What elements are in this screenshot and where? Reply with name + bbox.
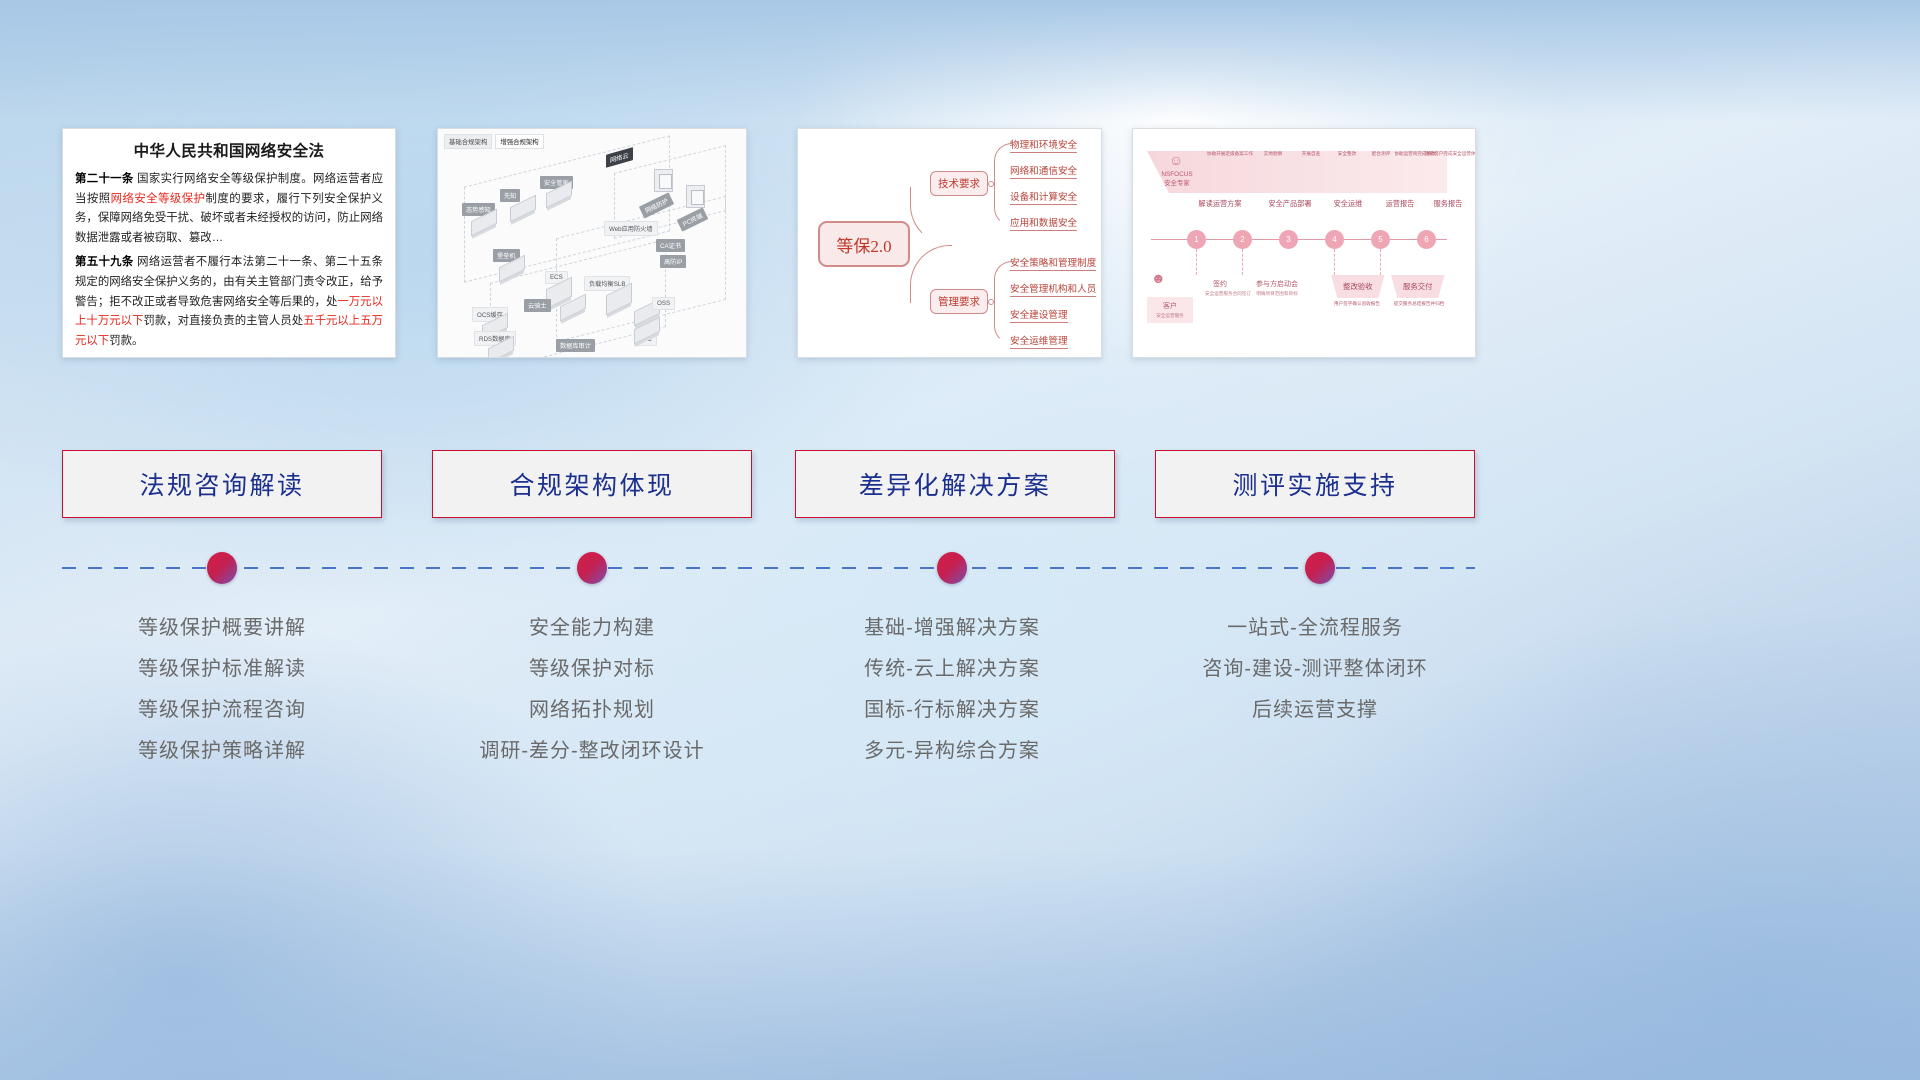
flow-bottom-sign: 签约 安全运营服务合同签订 (1199, 275, 1241, 301)
column-solution-items: 基础-增强解决方案 传统-云上解决方案 国标-行标解决方案 多元-异构综合方案 (787, 608, 1117, 772)
arch-node-yunqishi: 云骑士 (524, 299, 551, 312)
flow-phase-2: 安全产品部署 (1261, 199, 1319, 209)
flow-dash-3 (1334, 249, 1335, 275)
article-59-text-b: 罚款，对直接负责的主管人员处 (143, 315, 303, 327)
flow-bottom-acceptance: 整改验收 (1331, 275, 1385, 298)
column-2-item-3: 网络拓扑规划 (427, 690, 757, 731)
flow-step-4: 4 (1325, 230, 1344, 249)
column-4-item-2: 咨询-建设-测评整体闭环 (1150, 649, 1480, 690)
column-2-item-2: 等级保护对标 (427, 649, 757, 690)
mindmap-leaf-mgmt-4: 安全运维管理 (1010, 333, 1068, 349)
client-person-icon: ☻ (1151, 271, 1166, 285)
banner-label-1: 法规咨询解读 (139, 466, 304, 502)
timeline-dot-1 (207, 552, 237, 584)
serviceflow-diagram: ☺ NSFOCUS 安全专家 协助开展定级备案工作 实地勘察 开展自查 安全整改… (1133, 129, 1475, 357)
arch-node-xianzhi: 先知 (500, 189, 520, 202)
flow-bottom-client-sub: 安全运营服务 (1153, 313, 1187, 319)
flow-bottom-kickoff-sub: 明确项目范围和目标 (1253, 291, 1301, 297)
screenshot-card-serviceflow[interactable]: ☺ NSFOCUS 安全专家 协助开展定级备案工作 实地勘察 开展自查 安全整改… (1132, 128, 1476, 358)
flow-bottom-sign-label: 签约 (1213, 281, 1227, 288)
serviceflow-persona: NSFOCUS 安全专家 (1151, 171, 1203, 188)
column-regulation-items: 等级保护概要讲解 等级保护标准解读 等级保护流程咨询 等级保护策略详解 (57, 608, 387, 772)
column-4-item-3: 后续运营支撑 (1150, 690, 1480, 731)
tab-enhanced-architecture[interactable]: 增强合规架构 (495, 134, 543, 149)
arch-server-mobile (686, 185, 705, 208)
column-3-item-2: 传统-云上解决方案 (787, 649, 1117, 690)
mindmap-leaf-mgmt-2: 安全管理机构和人员 (1010, 281, 1096, 297)
mindmap-branch-mgmt: 管理要求 (930, 289, 988, 314)
banner-label-2: 合规架构体现 (509, 466, 674, 502)
flow-bottom-acceptance-sub: 用户签字确认验收报告 (1329, 301, 1385, 307)
flow-top-item-1: 协助开展定级备案工作 (1207, 151, 1251, 157)
flow-phase-5: 服务报告 (1419, 199, 1476, 209)
flow-bottom-client-label: 客户 (1163, 303, 1177, 310)
flow-dash-2 (1242, 249, 1243, 275)
mindmap-branch-tech: 技术要求 (930, 171, 988, 196)
arch-server-pc (654, 169, 673, 192)
screenshot-card-mindmap[interactable]: 等保2.0 技术要求 物理和环境安全 网络和通信安全 设备和计算安全 应用和数据… (797, 128, 1102, 358)
column-3-item-3: 国标-行标解决方案 (787, 690, 1117, 731)
flow-bottom-sign-sub: 安全运营服务合同签订 (1205, 291, 1235, 297)
flow-step-3: 3 (1279, 230, 1298, 249)
banner-differentiated-solution[interactable]: 差异化解决方案 (795, 450, 1115, 518)
column-1-item-4: 等级保护策略详解 (57, 731, 387, 772)
column-architecture-items: 安全能力构建 等级保护对标 网络拓扑规划 调研-差分-整改闭环设计 (427, 608, 757, 772)
flow-step-5: 5 (1371, 230, 1390, 249)
flow-phase-3: 安全运维 (1319, 199, 1377, 209)
arch-node-db-audit: 数据库审计 (556, 339, 595, 352)
column-1-item-3: 等级保护流程咨询 (57, 690, 387, 731)
flow-step-1: 1 (1187, 230, 1206, 249)
flow-phase-1: 解读运营方案 (1191, 199, 1249, 209)
mindmap-leaf-mgmt-1: 安全策略和管理制度 (1010, 255, 1096, 271)
flow-dash-4 (1380, 249, 1381, 275)
column-1-item-1: 等级保护概要讲解 (57, 608, 387, 649)
persona-brand: NSFOCUS (1161, 171, 1192, 178)
flow-step-6: 6 (1417, 230, 1436, 249)
law-document: 中华人民共和国网络安全法 第二十一条 国家实行网络安全等级保护制度。网络运营者应… (63, 129, 395, 357)
law-article-21: 第二十一条 国家实行网络安全等级保护制度。网络运营者应当按照网络安全等级保护制度… (75, 170, 383, 248)
article-21-label: 第二十一条 (75, 173, 134, 185)
screenshot-card-law[interactable]: 中华人民共和国网络安全法 第二十一条 国家实行网络安全等级保护制度。网络运营者应… (62, 128, 396, 358)
law-title: 中华人民共和国网络安全法 (75, 139, 383, 161)
flow-bottom-delivery: 服务交付 (1391, 275, 1445, 298)
arch-node-oss: OSS (652, 297, 675, 310)
mindmap-leaf-mgmt-3: 安全建设管理 (1010, 307, 1068, 323)
law-article-59: 第五十九条 网络运营者不履行本法第二十一条、第二十五条规定的网络安全保护义务的，… (75, 253, 383, 351)
column-4-item-1: 一站式-全流程服务 (1150, 608, 1480, 649)
column-3-item-4: 多元-异构综合方案 (787, 731, 1117, 772)
arch-node-ca: CA证书 (656, 239, 685, 252)
flow-bottom-delivery-sub: 提交服务总结报告并归档 (1389, 301, 1449, 307)
timeline-dot-4 (1305, 552, 1335, 584)
flow-bottom-client: 客户 安全运营服务 (1147, 297, 1193, 323)
banner-compliance-architecture[interactable]: 合规架构体现 (432, 450, 752, 518)
mindmap-leaf-tech-2: 网络和通信安全 (1010, 163, 1077, 179)
column-3-item-1: 基础-增强解决方案 (787, 608, 1117, 649)
column-1-item-2: 等级保护标准解读 (57, 649, 387, 690)
flow-bottom-kickoff: 参与方启动会 明确项目范围和目标 (1247, 275, 1307, 301)
expert-person-icon: ☺ (1169, 153, 1183, 167)
flow-bottom-delivery-label: 服务交付 (1403, 282, 1433, 291)
banner-regulation-consulting[interactable]: 法规咨询解读 (62, 450, 382, 518)
article-59-text-c: 罚款。 (109, 335, 143, 347)
flow-bottom-acceptance-label: 整改验收 (1343, 282, 1373, 291)
persona-role: 安全专家 (1164, 180, 1190, 187)
banner-label-4: 测评实施支持 (1232, 466, 1397, 502)
architecture-diagram: 基础合规架构 增强合规架构 网络云 安全管家 先知 态势感知 堡垒机 ECS 云… (438, 129, 746, 357)
article-21-highlight: 网络安全等级保护 (111, 193, 206, 205)
banner-label-3: 差异化解决方案 (859, 466, 1052, 502)
architecture-tabs[interactable]: 基础合规架构 增强合规架构 (444, 134, 544, 149)
mindmap-leaf-tech-1: 物理和环境安全 (1010, 137, 1077, 153)
flow-bottom-kickoff-label: 参与方启动会 (1256, 281, 1298, 288)
column-2-item-1: 安全能力构建 (427, 608, 757, 649)
flow-dash-1 (1196, 249, 1197, 275)
mindmap-leaf-tech-3: 设备和计算安全 (1010, 189, 1077, 205)
column-2-item-4: 调研-差分-整改闭环设计 (427, 731, 757, 772)
screenshot-card-architecture[interactable]: 基础合规架构 增强合规架构 网络云 安全管家 先知 态势感知 堡垒机 ECS 云… (437, 128, 747, 358)
mindmap-root: 等保2.0 (818, 221, 910, 267)
mindmap-leaf-tech-4: 应用和数据安全 (1010, 215, 1077, 231)
tab-basic-architecture[interactable]: 基础合规架构 (444, 134, 492, 149)
column-assessment-items: 一站式-全流程服务 咨询-建设-测评整体闭环 后续运营支撑 (1150, 608, 1480, 731)
timeline-dashed-line (62, 567, 1475, 569)
arch-node-waf: Web应用防火墙 (604, 221, 658, 236)
flow-top-item-7: 协助客户完成安全运营体系建设 (1425, 151, 1465, 157)
mindmap-diagram: 等保2.0 技术要求 物理和环境安全 网络和通信安全 设备和计算安全 应用和数据… (798, 129, 1101, 357)
timeline-dot-3 (937, 552, 967, 584)
timeline-dot-2 (577, 552, 607, 584)
flow-step-2: 2 (1233, 230, 1252, 249)
banner-assessment-support[interactable]: 测评实施支持 (1155, 450, 1475, 518)
arch-node-anti-ddos: 高防IP (660, 255, 686, 268)
article-59-label: 第五十九条 (75, 256, 134, 268)
